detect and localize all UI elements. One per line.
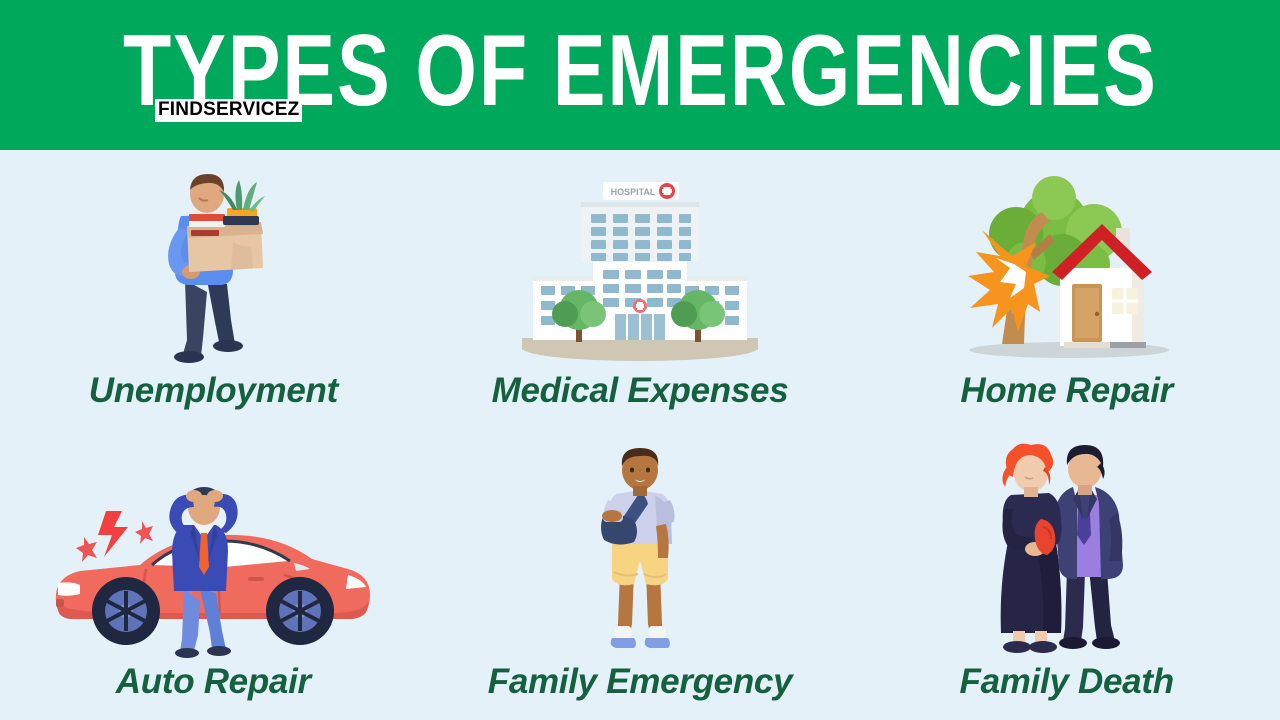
auto-repair-illustration — [0, 448, 427, 658]
label-home-repair: Home Repair — [960, 371, 1173, 411]
card-unemployment[interactable]: Unemployment — [0, 150, 427, 435]
wheel-rear — [266, 577, 334, 645]
label-medical-expenses: Medical Expenses — [492, 371, 789, 411]
home-repair-illustration — [853, 172, 1280, 367]
card-home-repair[interactable]: Home Repair — [853, 150, 1280, 435]
label-unemployment: Unemployment — [89, 371, 338, 411]
header-banner: TYPES OF EMERGENCIES — [0, 0, 1280, 150]
infographic-page: TYPES OF EMERGENCIES FINDSERVICEZ — [0, 0, 1280, 720]
medical-expenses-illustration: HOSPITAL — [427, 172, 854, 367]
woman-in-mourning — [1001, 444, 1062, 653]
card-family-death[interactable]: Family Death — [853, 435, 1280, 720]
man-carrying-office-box-icon — [123, 172, 303, 367]
wheel-front — [92, 577, 160, 645]
grieving-couple-icon — [979, 443, 1154, 658]
tree-falling-on-house-icon — [954, 172, 1179, 367]
card-family-emergency[interactable]: Family Emergency — [427, 435, 854, 720]
card-medical-expenses[interactable]: HOSPITAL — [427, 150, 854, 435]
family-emergency-illustration — [427, 448, 854, 658]
broken-car-with-stressed-man-icon — [48, 483, 378, 658]
hospital-sign-text: HOSPITAL — [611, 187, 656, 197]
family-death-illustration — [853, 448, 1280, 658]
unemployment-illustration — [0, 172, 427, 367]
boy-with-arm-sling-icon — [570, 448, 710, 658]
label-auto-repair: Auto Repair — [116, 662, 311, 702]
label-family-emergency: Family Emergency — [488, 662, 793, 702]
spark-icon — [76, 511, 153, 562]
watermark-findservicez: FINDSERVICEZ — [155, 99, 302, 122]
card-auto-repair[interactable]: Auto Repair — [0, 435, 427, 720]
hospital-building-icon: HOSPITAL — [515, 172, 765, 367]
label-family-death: Family Death — [960, 662, 1174, 702]
emergency-types-grid: Unemployment — [0, 150, 1280, 720]
